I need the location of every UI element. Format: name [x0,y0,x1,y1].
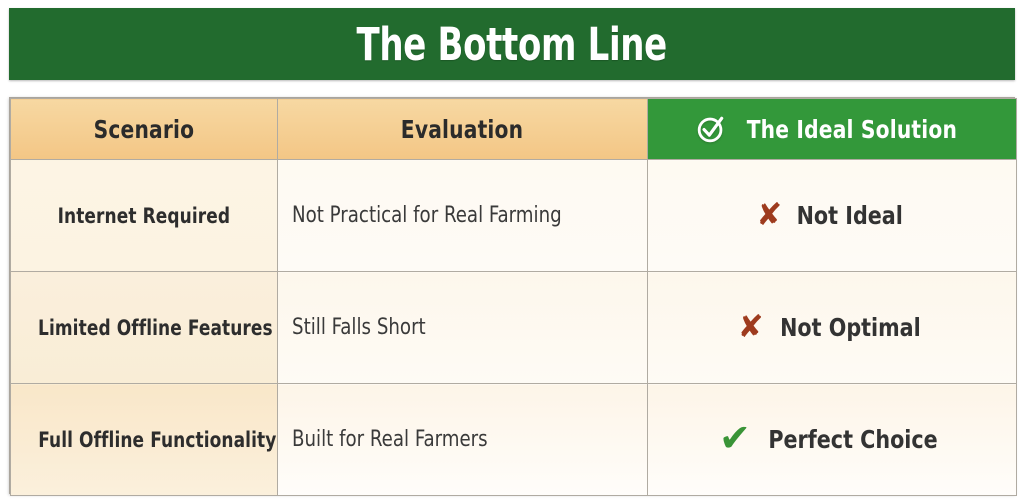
table-body: Internet Required Not Practical for Real… [11,160,1017,496]
verdict-label: Not Optimal [780,313,921,342]
verdict-label: Perfect Choice [768,425,937,454]
circle-check-icon [696,114,726,144]
table-row: Internet Required Not Practical for Real… [11,160,1017,272]
cell-verdict: ✘ Not Optimal [648,272,1017,384]
evaluation-label: Still Falls Short [292,315,426,340]
cell-scenario: Full Offline Functionality [11,384,278,496]
scenario-label: Limited Offline Features [38,316,273,340]
column-header-ideal-solution: The Ideal Solution [648,99,1017,160]
evaluation-label: Not Practical for Real Farming [292,203,562,228]
cell-evaluation: Not Practical for Real Farming [278,160,648,272]
column-header-evaluation-label: Evaluation [401,115,523,144]
cell-scenario: Internet Required [11,160,278,272]
table-row: Full Offline Functionality Built for Rea… [11,384,1017,496]
scenario-label: Full Offline Functionality [38,428,276,452]
title-banner: The Bottom Line [9,8,1015,80]
page-title: The Bottom Line [357,22,667,67]
table-row: Limited Offline Features Still Falls Sho… [11,272,1017,384]
comparison-table: Scenario Evaluation The Ideal Solution [10,98,1017,496]
cell-evaluation: Built for Real Farmers [278,384,648,496]
checkmark-icon: ✔ [719,419,751,457]
column-header-ideal-solution-label: The Ideal Solution [746,115,956,144]
cell-scenario: Limited Offline Features [11,272,278,384]
slide-root: The Bottom Line Scenario Evaluation [0,0,1024,501]
column-header-scenario-label: Scenario [94,115,195,144]
column-header-scenario: Scenario [11,99,278,160]
table-header-row: Scenario Evaluation The Ideal Solution [11,99,1017,160]
comparison-table-wrapper: Scenario Evaluation The Ideal Solution [9,97,1015,494]
column-header-evaluation: Evaluation [278,99,648,160]
scenario-label: Internet Required [58,204,231,228]
evaluation-label: Built for Real Farmers [292,427,488,452]
cross-icon: ✘ [756,200,782,231]
cell-verdict: ✘ Not Ideal [648,160,1017,272]
cross-icon: ✘ [738,312,764,343]
cell-verdict: ✔ Perfect Choice [648,384,1017,496]
cell-evaluation: Still Falls Short [278,272,648,384]
verdict-label: Not Ideal [797,201,903,230]
